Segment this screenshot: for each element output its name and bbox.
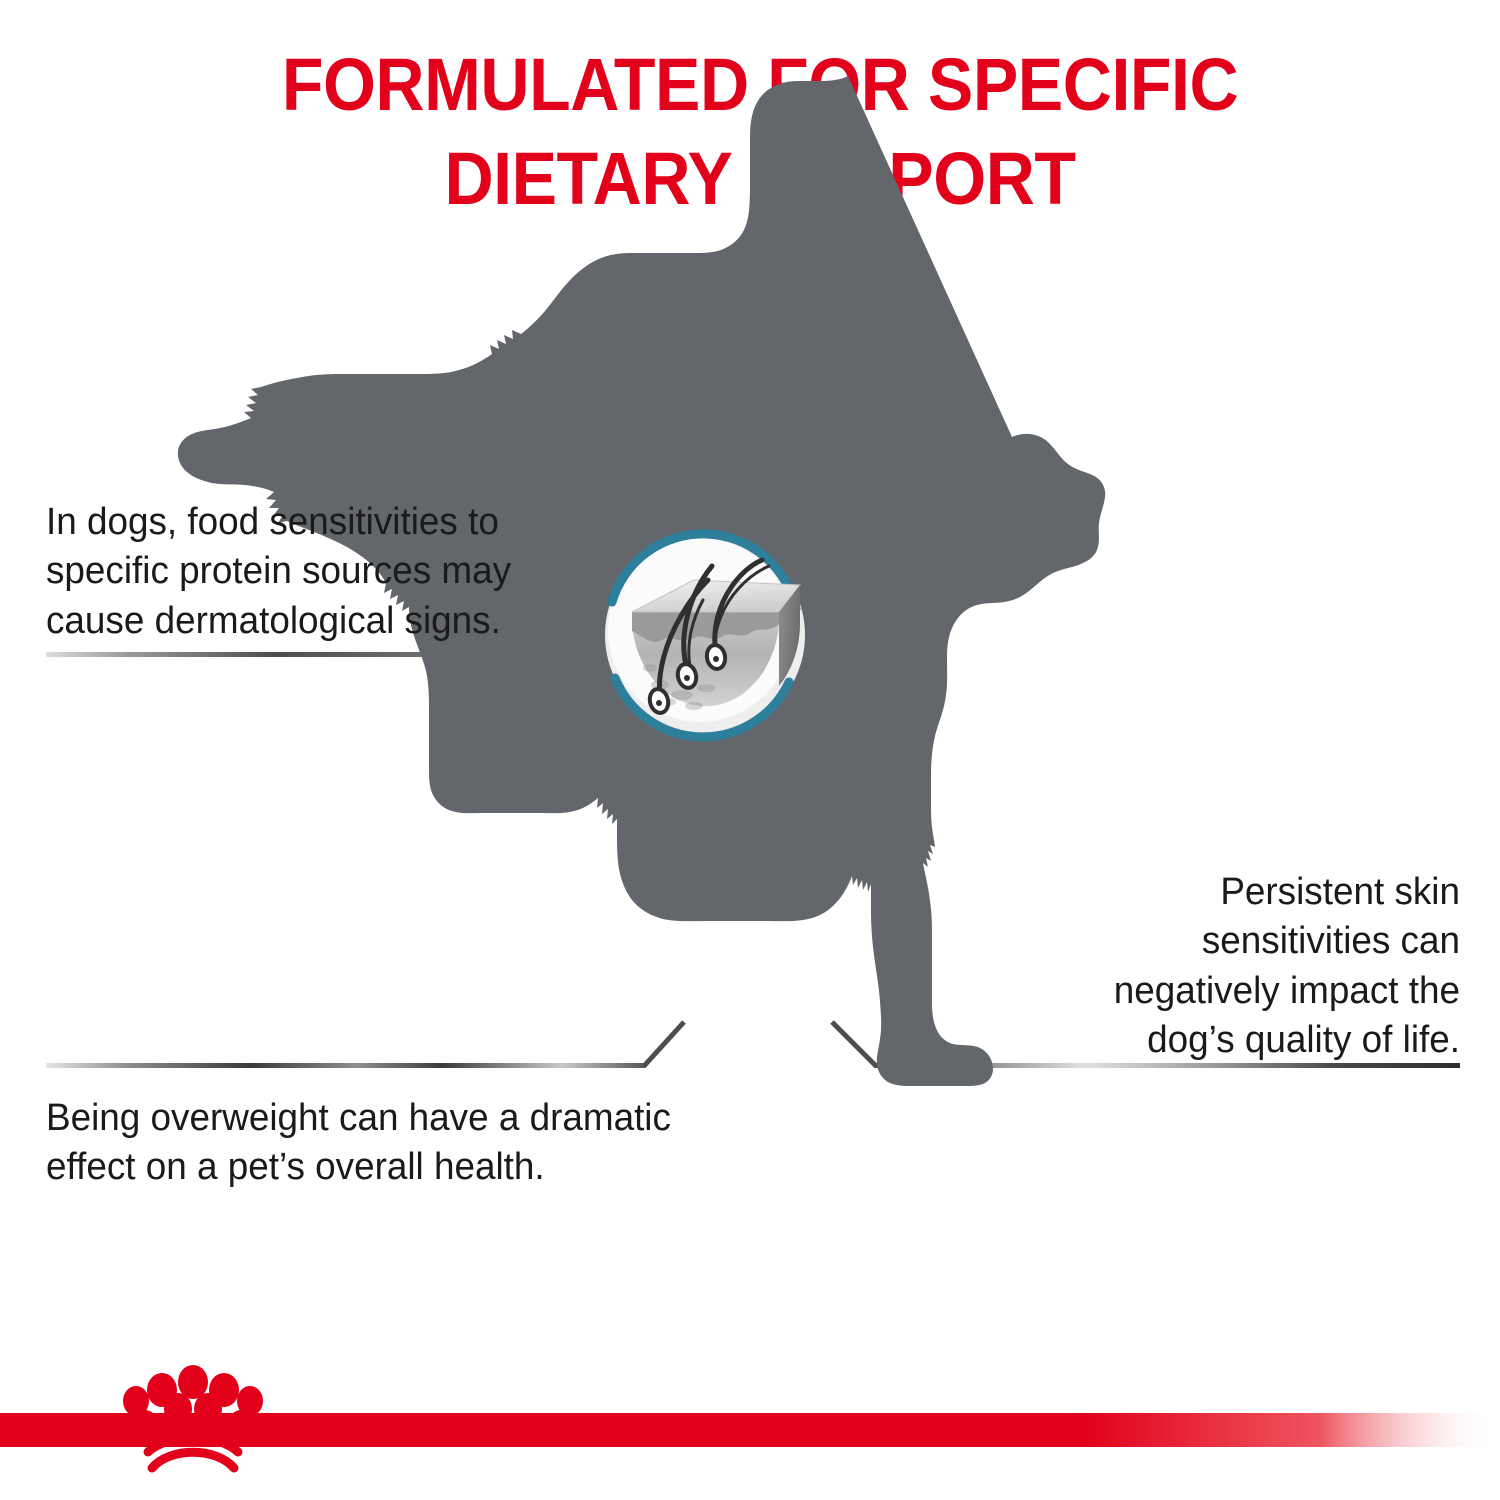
connector-bottomleft [46, 1022, 684, 1068]
skin-follicle-icon [605, 534, 805, 737]
connector-topleft [46, 652, 545, 700]
infographic-page: FORMULATED FOR SPECIFIC DIETARY SUPPORT [0, 0, 1500, 1500]
page-title: FORMULATED FOR SPECIFIC DIETARY SUPPORT [153, 38, 1367, 226]
callout-food-sensitivities: In dogs, food sensitivities to specific … [46, 498, 589, 646]
callout-persistent-skin-sensitivities: Persistent skin sensitivities can negati… [1004, 868, 1460, 1066]
royal-canin-crown-logo [108, 1365, 278, 1468]
callout-overweight: Being overweight can have a dramatic eff… [46, 1094, 783, 1193]
royal-canin-brand-bar [0, 1413, 1500, 1447]
